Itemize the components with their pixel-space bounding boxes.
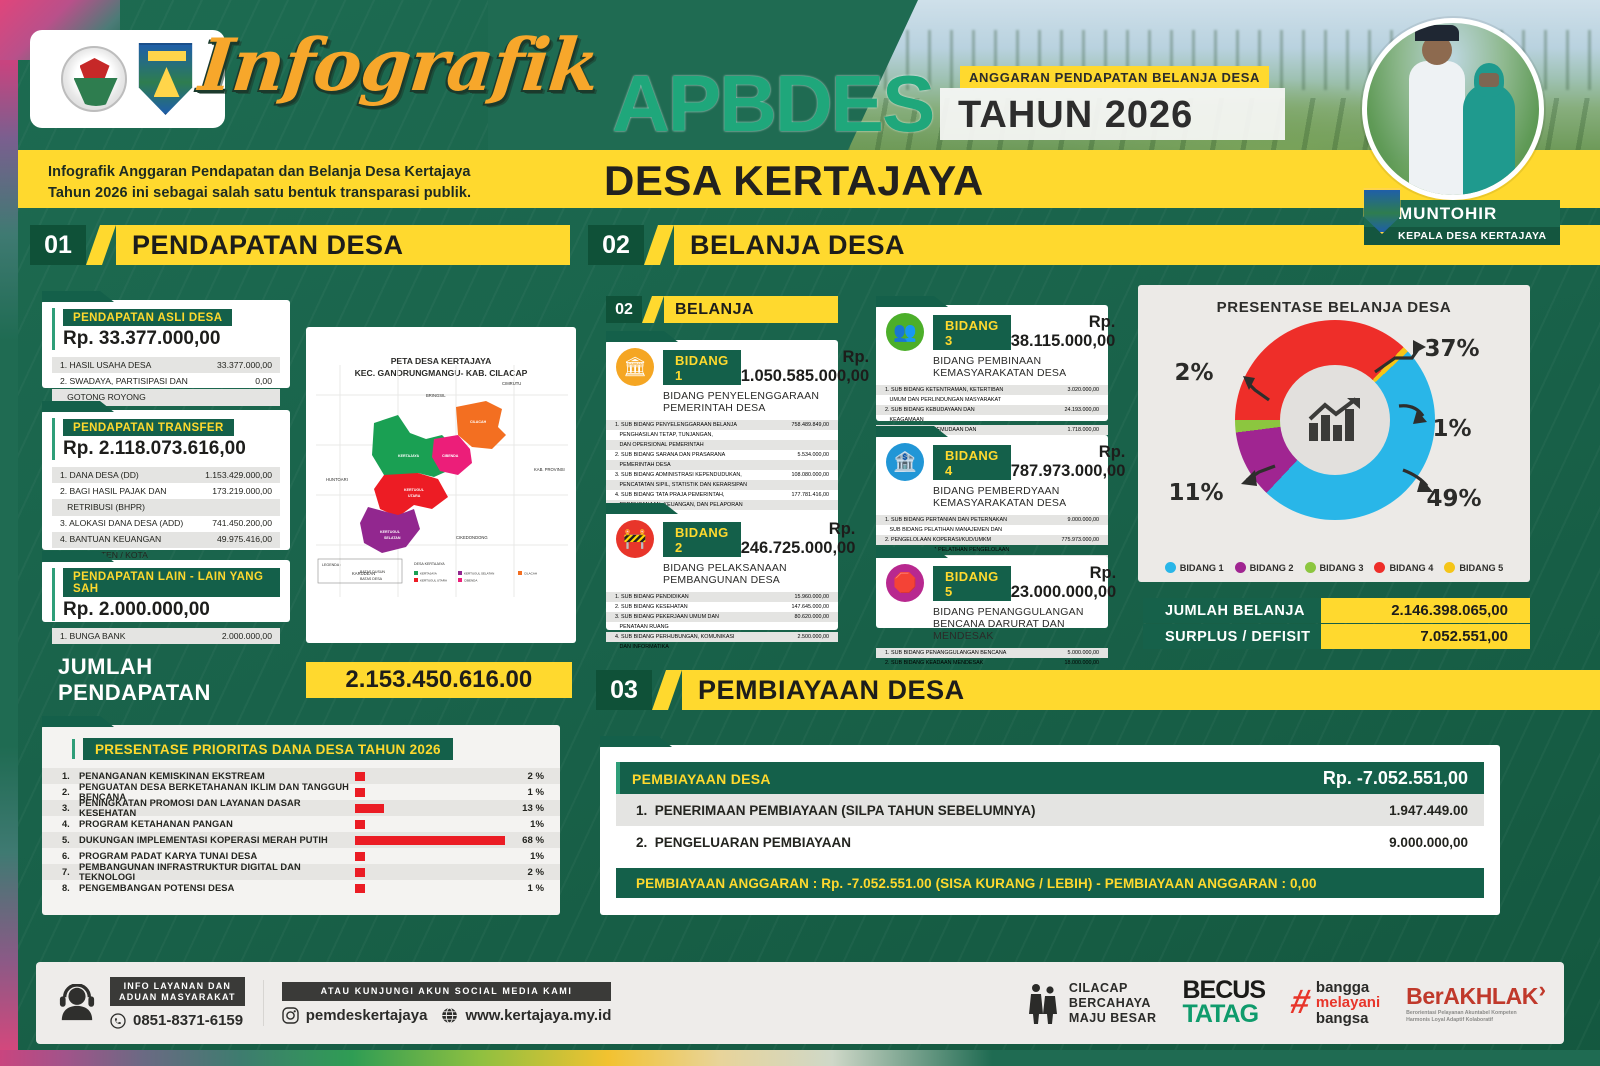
jumlah-pendapatan-value: 2.153.450.616.00	[306, 662, 572, 698]
svg-text:KAB. PROVINSI: KAB. PROVINSI	[534, 467, 565, 472]
donut-center	[1280, 365, 1390, 475]
prioritas-card: PRESENTASE PRIORITAS DANA DESA TAHUN 202…	[42, 725, 560, 915]
row-label: RETRIBUSI (BHPR)	[60, 502, 153, 513]
card-caption: PENDAPATAN ASLI DESA Rp. 33.377.000,00	[52, 308, 280, 350]
emergency-icon: 🛑	[886, 564, 924, 602]
row-bar	[355, 820, 365, 829]
bidang-rows: 1. SUB BIDANG PENDIDIKAN 15.960.000,00 2…	[606, 592, 838, 652]
svg-text:SELATAN: SELATAN	[384, 536, 401, 540]
bidang-card: 👥 BIDANG 3 Rp. 38.115.000,00 BIDANG PEMB…	[876, 305, 1108, 421]
berakhlak-text: BerAKHLAK	[1406, 983, 1538, 1010]
bidang-amount: Rp. 38.115.000,00	[1011, 313, 1120, 351]
row-percent: 2 %	[510, 771, 544, 782]
row-value: 147.645.000,00	[792, 604, 829, 611]
row-bar-track	[355, 852, 510, 861]
cilacap-logo-line-2: BERCAHAYA	[1069, 996, 1157, 1011]
row-bar	[355, 772, 365, 781]
bidang-number: BIDANG 3	[933, 315, 1011, 350]
legend-label: BIDANG 4	[1389, 563, 1433, 573]
row-label: 2. SUB BIDANG SARANA DAN PRASARANA	[615, 452, 733, 459]
row-label: PEMBANGUNAN INFRASTRUKTUR DIGITAL DAN TE…	[79, 862, 355, 882]
section-number-02: 02	[588, 225, 644, 265]
svg-text:KERTUGUL: KERTUGUL	[380, 530, 401, 534]
legend-label: BIDANG 5	[1459, 563, 1503, 573]
pct-label-bidang4: 37%	[1425, 336, 1480, 362]
infographic-page: Infografik APBDES ANGGARAN PENDAPATAN BE…	[0, 0, 1600, 1066]
svg-text:BATAS DUSUN: BATAS DUSUN	[360, 570, 385, 574]
table-row: 1. SUB BIDANG PENDIDIKAN 15.960.000,00	[606, 592, 838, 602]
row-bar	[355, 852, 365, 861]
social-media-badge: ATAU KUNJUNGI AKUN SOCIAL MEDIA KAMI	[282, 982, 612, 1000]
card-amount: Rp. 2.118.073.616,00	[63, 438, 280, 460]
row-value: 2.000.000,00	[222, 631, 272, 642]
bidang-card: 🏛 BIDANG 1 Rp. 1.050.585.000,00 BIDANG P…	[606, 340, 838, 528]
belanja-subbar: 02 BELANJA	[606, 296, 838, 323]
bidang-card: 🚧 BIDANG 2 Rp. 246.725.000,00 BIDANG PEL…	[606, 512, 838, 630]
hashtag-icon: #	[1287, 983, 1314, 1022]
row-label: 1. DANA DESA (DD)	[60, 470, 147, 481]
section-notch	[644, 225, 674, 265]
cilacap-logo-line-1: CILACAP	[1069, 981, 1157, 996]
bidang-header: 🏦 BIDANG 4 Rp. 787.973.000,00 BIDANG PEM…	[876, 435, 1108, 513]
table-row: 2. PENGELOLAAN KOPERASI/KUD/UMKM 775.973…	[876, 535, 1108, 545]
chart-legend: BIDANG 1 BIDANG 2 BIDANG 3 BIDANG 4 BIDA…	[1138, 562, 1530, 573]
legend-item: BIDANG 4	[1374, 562, 1433, 573]
row-value: 0,00	[255, 376, 272, 387]
table-row: PENCATATAN SIPIL, STATISTIK DAN KERARSIP…	[606, 480, 838, 490]
row-value: 173.219.000,00	[212, 486, 272, 497]
jumlah-belanja-bar: JUMLAH BELANJA 2.146.398.065,00	[1143, 598, 1530, 623]
logo-box	[30, 30, 225, 128]
jumlah-belanja-label: JUMLAH BELANJA	[1143, 598, 1321, 623]
row-percent: 68 %	[510, 835, 544, 846]
row-label: 2. SWADAYA, PARTISIPASI DAN	[60, 376, 196, 387]
head-name: MUNTOHIR	[1398, 204, 1497, 224]
pendapatan-card: PENDAPATAN LAIN - LAIN YANG SAH Rp. 2.00…	[42, 560, 290, 622]
footer-bar: INFO LAYANAN DAN ADUAN MASYARAKAT 0851-8…	[36, 962, 1564, 1044]
pembiayaan-row: 1. PENERIMAAN PEMBIAYAAN (SILPA TAHUN SE…	[616, 794, 1484, 826]
table-row: 1. SUB BIDANG KETENTRAMAN, KETERTIBAN 3.…	[876, 385, 1108, 395]
surplus-label: SURPLUS / DEFISIT	[1143, 624, 1321, 649]
card-rows: 1. HASIL USAHA DESA 33.377.000,00 2. SWA…	[52, 357, 280, 406]
row-label: 1. PENERIMAAN PEMBIAYAAN (SILPA TAHUN SE…	[636, 803, 1036, 818]
row-label: PROGRAM PADAT KARYA TUNAI DESA	[79, 851, 355, 861]
row-label: 2. PENGELUARAN PEMBIAYAAN	[636, 835, 851, 850]
table-row: 2. SUB BIDANG KEADAAN MENDESAK 18.000.00…	[876, 658, 1108, 668]
row-value: 5.000.000,00	[1068, 650, 1099, 657]
table-row: 1. SUB BIDANG PENANGGULANGAN BENCANA 5.0…	[876, 648, 1108, 658]
chevron-right-icon: ›	[1539, 977, 1546, 1003]
table-row: 1. HASIL USAHA DESA 33.377.000,00	[52, 357, 280, 373]
table-row: DAN INFORMATIKA	[606, 642, 838, 652]
infografik-script-title: Infografik	[196, 22, 603, 107]
row-number: 5.	[62, 835, 79, 845]
belanja-pie-chart: PRESENTASE BELANJA DESA 37% 1% 49% 11% 2…	[1138, 285, 1530, 582]
cilacap-seal-icon	[137, 43, 195, 115]
legend-dot	[1305, 562, 1316, 573]
card-title: PENDAPATAN LAIN - LAIN YANG SAH	[63, 568, 280, 597]
legend-dot	[1235, 562, 1246, 573]
row-number: 7.	[62, 867, 79, 877]
bidang-number: BIDANG 1	[663, 350, 741, 385]
legend-label: BIDANG 2	[1250, 563, 1294, 573]
bidang-subtitle: BIDANG PELAKSANAAN PEMBANGUNAN DESA	[663, 562, 859, 586]
legend-dot	[1374, 562, 1385, 573]
subtitle-line-2: Tahun 2026 ini sebagai salah satu bentuk…	[48, 183, 471, 204]
section-label-pendapatan: PENDAPATAN DESA	[116, 225, 570, 265]
bidang-amount: Rp. 23.000.000,00	[1011, 564, 1121, 602]
table-row: 4. SUB BIDANG TATA PRAJA PEMERINTAH, 177…	[606, 490, 838, 500]
row-value: 1.718.000,00	[1068, 427, 1099, 434]
bottom-edge-stripe	[0, 1050, 1600, 1066]
table-row: KEAGAMAAN	[876, 415, 1108, 425]
row-percent: 13 %	[510, 803, 544, 814]
bidang-amount: Rp. 787.973.000,00	[1011, 443, 1130, 481]
bidang-header: 🏛 BIDANG 1 Rp. 1.050.585.000,00 BIDANG P…	[606, 340, 838, 418]
legend-item: BIDANG 3	[1305, 562, 1364, 573]
globe-website-icon	[441, 1007, 458, 1024]
apbdes-title: APBDES	[612, 68, 933, 140]
info-badge-line-2: ADUAN MASYARAKAT	[119, 992, 236, 1002]
becus-tatag-logo: BECUS TATAG	[1182, 979, 1265, 1027]
tatag-text: TATAG	[1182, 1003, 1265, 1027]
row-label: 3. SUB BIDANG PEKERJAAN UMUM DAN	[615, 614, 727, 621]
bidang-number: BIDANG 4	[933, 445, 1011, 480]
bidang-subtitle: BIDANG PENYELENGGARAAN PEMERINTAH DESA	[663, 390, 873, 414]
legend-label: BIDANG 1	[1180, 563, 1224, 573]
avatar-head-male	[1409, 61, 1465, 200]
prioritas-row: 4. PROGRAM KETAHANAN PANGAN 1%	[42, 816, 560, 832]
row-percent: 1 %	[510, 883, 544, 894]
table-row: 2. SUB BIDANG KESEHATAN 147.645.000,00	[606, 602, 838, 612]
info-layanan-badge: INFO LAYANAN DAN ADUAN MASYARAKAT	[110, 977, 245, 1007]
svg-text:CIBENDA: CIBENDA	[442, 454, 459, 458]
row-bar-track	[355, 788, 510, 797]
empowerment-icon: 🏦	[886, 443, 924, 481]
row-label: DUKUNGAN IMPLEMENTASI KOPERASI MERAH PUT…	[79, 835, 355, 845]
legend-label: BIDANG 3	[1320, 563, 1364, 573]
row-label: PENGHASILAN TETAP, TUNJANGAN,	[615, 432, 721, 439]
cilacap-figures-icon	[1026, 981, 1060, 1025]
section-label-pembiayaan: PEMBIAYAAN DESA	[682, 670, 1600, 710]
svg-text:CILACAH: CILACAH	[470, 420, 487, 424]
table-row: UMUM DAN PERLINDUNGAN MASYARAKAT	[876, 395, 1108, 405]
table-row: PENATAAN RUANG	[606, 622, 838, 632]
section-number-03: 03	[596, 670, 652, 710]
bangga-melayani-bangsa-logo: # bangga melayani bangsa	[1291, 980, 1380, 1026]
row-label: 4. SUB BIDANG PERHUBUNGAN, KOMUNIKASI	[615, 634, 743, 641]
row-bar-track	[355, 836, 510, 845]
row-label: 1. SUB BIDANG PENYELENGGARAAN BELANJA	[615, 422, 745, 429]
row-label: PEMERINTAH DESA	[615, 462, 679, 469]
card-caption: PENDAPATAN TRANSFER Rp. 2.118.073.616,00	[52, 418, 280, 460]
avatar-head-female	[1463, 83, 1515, 200]
svg-text:UTARA: UTARA	[408, 494, 421, 498]
left-edge-stripe	[0, 0, 18, 1066]
table-row: DAN OPERSIONAL PEMERINTAH	[606, 440, 838, 450]
row-value: 80.620.000,00	[795, 614, 829, 621]
svg-text:KERTUGUL SELATAN: KERTUGUL SELATAN	[464, 572, 494, 576]
bangga-text: bangga	[1316, 980, 1380, 995]
row-label: 1. HASIL USAHA DESA	[60, 360, 159, 371]
belanja-subbar-label: BELANJA	[664, 296, 838, 323]
row-label: 1. SUB BIDANG PENANGGULANGAN BENCANA	[885, 650, 1014, 657]
row-label: PROGRAM KETAHANAN PANGAN	[79, 819, 355, 829]
belanja-subbar-notch	[642, 296, 664, 323]
row-label: 1. SUB BIDANG PENDIDIKAN	[615, 594, 697, 601]
bank-icon: 🏛	[616, 348, 654, 386]
row-label: UMUM DAN PERLINDUNGAN MASYARAKAT	[885, 397, 1009, 404]
row-value: 1.947.449.00	[1389, 803, 1468, 818]
row-label: DAN OPERSIONAL PEMERINTAH	[615, 442, 712, 449]
pct-label-bidang2: 11%	[1169, 480, 1224, 506]
svg-text:KERTUGUL: KERTUGUL	[404, 488, 425, 492]
svg-text:BRINGSIL: BRINGSIL	[426, 393, 446, 398]
head-role: KEPALA DESA KERTAJAYA	[1364, 227, 1560, 245]
chart-title: PRESENTASE BELANJA DESA	[1138, 285, 1530, 316]
row-bar	[355, 884, 365, 893]
legend-item: BIDANG 5	[1444, 562, 1503, 573]
village-head-nameplate: MUNTOHIR KEPALA DESA KERTAJAYA	[1364, 200, 1560, 245]
subtitle-line-1: Infografik Anggaran Pendapatan dan Belan…	[48, 162, 471, 183]
row-label: PENINGKATAN PROMOSI DAN LAYANAN DASAR KE…	[79, 798, 355, 818]
svg-text:CILACAH: CILACAH	[524, 572, 537, 576]
community-icon: 👥	[886, 313, 924, 351]
pembiayaan-header-label: PEMBIAYAAN DESA	[632, 771, 771, 787]
row-label: PENCATATAN SIPIL, STATISTIK DAN KERARSIP…	[615, 482, 755, 489]
row-value: 1.153.429.000,00	[205, 470, 272, 481]
bidang-subtitle: BIDANG PENANGGULANGAN BENCANA DARURAT DA…	[933, 606, 1120, 642]
svg-text:CIKEDONDONG: CIKEDONDONG	[456, 535, 488, 540]
row-bar	[355, 788, 365, 797]
row-label: 2. BAGI HASIL PAJAK DAN	[60, 486, 175, 497]
bidang-header: 👥 BIDANG 3 Rp. 38.115.000,00 BIDANG PEMB…	[876, 305, 1108, 383]
growth-chart-icon	[1306, 397, 1364, 443]
table-row: SUB BIDANG PELATIHAN MANAJEMEN DAN	[876, 525, 1108, 535]
card-amount: Rp. 33.377.000,00	[63, 328, 280, 350]
table-row: 2. SWADAYA, PARTISIPASI DAN 0,00	[52, 373, 280, 389]
table-row: 4. BANTUAN KEUANGAN 49.975.416,00	[52, 532, 280, 548]
card-rows: 1. BUNGA BANK 2.000.000,00	[52, 628, 280, 644]
belanja-subbar-number: 02	[606, 296, 642, 323]
row-label: 1. BUNGA BANK	[60, 631, 133, 642]
row-label: PENATAAN RUANG	[615, 624, 677, 631]
legend-item: BIDANG 2	[1235, 562, 1294, 573]
prioritas-row: 5. DUKUNGAN IMPLEMENTASI KOPERASI MERAH …	[42, 832, 560, 848]
tahun-text: TAHUN 2026	[958, 94, 1193, 137]
row-value: 9.000.000,00	[1389, 835, 1468, 850]
row-number: 8.	[62, 883, 79, 893]
card-caption: PENDAPATAN LAIN - LAIN YANG SAH Rp. 2.00…	[52, 568, 280, 621]
legend-dot	[1165, 562, 1176, 573]
row-label: PENANGANAN KEMISKINAN EKSTREAM	[79, 771, 355, 781]
pendapatan-card: PENDAPATAN TRANSFER Rp. 2.118.073.616,00…	[42, 410, 290, 550]
village-title: DESA KERTAJAYA	[604, 157, 984, 205]
row-bar	[355, 868, 365, 877]
cilacap-bercahaya-logo: CILACAP BERCAHAYA MAJU BESAR	[1026, 981, 1157, 1026]
row-value: 24.193.000,00	[1065, 407, 1099, 414]
svg-text:KERTUGUL UTARA: KERTUGUL UTARA	[420, 579, 447, 583]
row-value: 49.975.416,00	[217, 534, 272, 545]
row-bar	[355, 836, 505, 845]
row-value: 33.377.000,00	[217, 360, 272, 371]
row-label: KEAGAMAAN	[885, 417, 932, 424]
row-bar	[355, 804, 384, 813]
row-value: 741.450.200,00	[212, 518, 272, 529]
row-label: 4. BANTUAN KEUANGAN	[60, 534, 169, 545]
section-notch	[86, 225, 116, 265]
header-subtitle: Infografik Anggaran Pendapatan dan Belan…	[48, 162, 471, 204]
prioritas-row: 8. PENGEMBANGAN POTENSI DESA 1 %	[42, 880, 560, 896]
bidang-subtitle: BIDANG PEMBERDYAAN KEMASYARAKATAN DESA	[933, 485, 1129, 509]
section-notch	[652, 670, 682, 710]
village-head-photo	[1362, 18, 1544, 200]
row-bar-track	[355, 868, 510, 877]
jumlah-belanja-value: 2.146.398.065,00	[1321, 598, 1530, 623]
pct-label-bidang5: 1%	[1433, 416, 1472, 442]
instagram-icon	[282, 1007, 299, 1024]
table-row: 2. SUB BIDANG SARANA DAN PRASARANA 5.534…	[606, 450, 838, 460]
row-label: 1. SUB BIDANG KETENTRAMAN, KETERTIBAN	[885, 387, 1011, 394]
jumlah-pendapatan-label: JUMLAH PENDAPATAN	[42, 662, 306, 698]
svg-text:HUNTOARI: HUNTOARI	[326, 477, 348, 482]
table-row: 1. SUB BIDANG PENYELENGGARAAN BELANJA 75…	[606, 420, 838, 430]
row-value: 3.020.000,00	[1068, 387, 1099, 394]
row-value: 108.080.000,00	[792, 472, 829, 479]
village-map-card: PETA DESA KERTAJAYA KEC. GANDRUNGMANGU- …	[306, 327, 576, 643]
construction-icon: 🚧	[616, 520, 654, 558]
section-bar-pembiayaan: 03 PEMBIAYAAN DESA	[596, 670, 1600, 710]
row-bar-track	[355, 804, 510, 813]
table-row: 1. DANA DESA (DD) 1.153.429.000,00	[52, 467, 280, 483]
bidang-card: 🛑 BIDANG 5 Rp. 23.000.000,00 BIDANG PENA…	[876, 556, 1108, 628]
table-row: 4. SUB BIDANG PERHUBUNGAN, KOMUNIKASI 2.…	[606, 632, 838, 642]
bidang-amount: Rp. 246.725.000,00	[741, 520, 860, 558]
row-bar-track	[355, 820, 510, 829]
anggaran-tag: ANGGARAN PENDAPATAN BELANJA DESA	[960, 66, 1269, 88]
prioritas-row: 3. PENINGKATAN PROMOSI DAN LAYANAN DASAR…	[42, 800, 560, 816]
bidang-rows: 1. SUB BIDANG PENANGGULANGAN BENCANA 5.0…	[876, 648, 1108, 668]
pct-label-bidang3: 2%	[1175, 360, 1214, 386]
pembiayaan-row: 2. PENGELUARAN PEMBIAYAAN 9.000.000,00	[616, 826, 1484, 858]
row-percent: 1%	[510, 851, 544, 862]
jumlah-pendapatan-bar: JUMLAH PENDAPATAN 2.153.450.616.00	[42, 662, 572, 698]
legend-dot	[1444, 562, 1455, 573]
row-label: 3. ALOKASI DANA DESA (ADD)	[60, 518, 191, 529]
berakhlak-logo: BerAKHLAK Berorientasi Pelayanan Akuntab…	[1406, 983, 1538, 1023]
row-label: 2. PENGELOLAAN KOPERASI/KUD/UMKM	[885, 537, 999, 544]
row-percent: 2 %	[510, 867, 544, 878]
row-label: 2. SUB BIDANG KESEHATAN	[615, 604, 696, 611]
svg-text:CIBENDA: CIBENDA	[464, 579, 477, 583]
prioritas-row: 7. PEMBANGUNAN INFRASTRUKTUR DIGITAL DAN…	[42, 864, 560, 880]
bidang-number: BIDANG 2	[663, 522, 741, 557]
svg-text:KERTAJAYA: KERTAJAYA	[420, 572, 437, 576]
berakhlak-tagline: Berorientasi Pelayanan Akuntabel Kompete…	[1406, 1010, 1526, 1023]
row-number: 1.	[62, 771, 79, 781]
svg-text:KERTAJAYA: KERTAJAYA	[398, 454, 419, 458]
card-amount: Rp. 2.000.000,00	[63, 599, 280, 621]
table-row: 3. ALOKASI DANA DESA (ADD) 741.450.200,0…	[52, 516, 280, 532]
whatsapp-icon	[110, 1013, 126, 1029]
cilacap-logo-line-3: MAJU BESAR	[1069, 1011, 1157, 1026]
instagram-handle[interactable]: pemdeskertajaya	[306, 1007, 428, 1024]
legend-item: BIDANG 1	[1165, 562, 1224, 573]
partner-logos: CILACAP BERCAHAYA MAJU BESAR BECUS TATAG…	[1026, 979, 1564, 1027]
row-value: 177.781.416,00	[792, 492, 829, 499]
row-value: 2.500.000,00	[798, 634, 829, 641]
row-value: 775.973.000,00	[1062, 537, 1099, 544]
row-value: 15.960.000,00	[795, 594, 829, 601]
map-svg: CIMRUTUBRINGSIL KAB. PROVINSIHUNTOARI CI…	[306, 357, 576, 607]
table-row: 3. SUB BIDANG ADMINISTRASI KEPENDUDUKAN,…	[606, 470, 838, 480]
bidang-subtitle: BIDANG PEMBINAAN KEMASYARAKATAN DESA	[933, 355, 1119, 379]
row-label: 2. SUB BIDANG KEADAAN MENDESAK	[885, 660, 991, 667]
table-row: 1. SUB BIDANG PERTANIAN DAN PETERNAKAN 9…	[876, 515, 1108, 525]
surplus-value: 7.052.551,00	[1321, 624, 1530, 649]
bidang-amount: Rp. 1.050.585.000,00	[741, 348, 873, 386]
row-label: 3. SUB BIDANG ADMINISTRASI KEPENDUDUKAN,	[615, 472, 750, 479]
section-number-01: 01	[30, 225, 86, 265]
row-number: 6.	[62, 851, 79, 861]
pembiayaan-header-value: Rp. -7.052.551,00	[1323, 768, 1468, 789]
row-value: 9.000.000,00	[1068, 517, 1099, 524]
section-bar-pendapatan: 01 PENDAPATAN DESA	[30, 225, 570, 265]
row-number: 4.	[62, 819, 79, 829]
row-number: 3.	[62, 803, 79, 813]
svg-text:BATAS DESA: BATAS DESA	[360, 577, 383, 581]
kemendesa-seal-icon	[61, 42, 127, 116]
pct-label-bidang1: 49%	[1427, 486, 1482, 512]
row-label: PENGEMBANGAN POTENSI DESA	[79, 883, 355, 893]
table-row: PEMERINTAH DESA	[606, 460, 838, 470]
bangsa-text: bangsa	[1316, 1011, 1380, 1026]
bidang-card: 🏦 BIDANG 4 Rp. 787.973.000,00 BIDANG PEM…	[876, 435, 1108, 545]
row-label: SUB BIDANG PELATIHAN MANAJEMEN DAN	[885, 527, 1010, 534]
card-title: PENDAPATAN TRANSFER	[63, 419, 234, 436]
card-title: PENDAPATAN ASLI DESA	[63, 309, 232, 326]
pendapatan-card: PENDAPATAN ASLI DESA Rp. 33.377.000,00 1…	[42, 300, 290, 388]
headset-support-icon	[58, 984, 96, 1022]
row-number: 2.	[62, 787, 79, 797]
pembiayaan-header: PEMBIAYAAN DESA Rp. -7.052.551,00	[616, 762, 1484, 794]
footer-divider	[263, 980, 264, 1026]
svg-text:DESA KERTAJAYA: DESA KERTAJAYA	[414, 562, 445, 566]
donut-wrap: 37% 1% 49% 11% 2%	[1227, 320, 1442, 520]
bidang-header: 🛑 BIDANG 5 Rp. 23.000.000,00 BIDANG PENA…	[876, 556, 1108, 646]
row-bar-track	[355, 884, 510, 893]
row-value: 758.489.849,00	[792, 422, 829, 429]
pembiayaan-card: PEMBIAYAAN DESA Rp. -7.052.551,00 1. PEN…	[600, 745, 1500, 915]
bidang-header: 🚧 BIDANG 2 Rp. 246.725.000,00 BIDANG PEL…	[606, 512, 838, 590]
table-row: 3. SUB BIDANG PEKERJAAN UMUM DAN 80.620.…	[606, 612, 838, 622]
svg-text:CIMRUTU: CIMRUTU	[502, 381, 521, 386]
phone-number[interactable]: 0851-8371-6159	[133, 1012, 243, 1029]
svg-text:LEGENDA :: LEGENDA :	[322, 563, 341, 567]
card-rows: 1. DANA DESA (DD) 1.153.429.000,00 2. BA…	[52, 467, 280, 564]
prioritas-caption: PRESENTASE PRIORITAS DANA DESA TAHUN 202…	[42, 725, 560, 768]
website-url[interactable]: www.kertajaya.my.id	[465, 1007, 611, 1024]
table-row: PENGHASILAN TETAP, TUNJANGAN,	[606, 430, 838, 440]
prioritas-title: PRESENTASE PRIORITAS DANA DESA TAHUN 202…	[83, 738, 453, 760]
row-value: 18.000.000,00	[1065, 660, 1099, 667]
row-label: DAN INFORMATIKA	[615, 644, 677, 651]
surplus-defisit-bar: SURPLUS / DEFISIT 7.052.551,00	[1143, 624, 1530, 649]
bidang-number: BIDANG 5	[933, 566, 1011, 601]
row-bar-track	[355, 772, 510, 781]
row-label: 4. SUB BIDANG TATA PRAJA PEMERINTAH,	[615, 492, 732, 499]
row-label: 1. SUB BIDANG PERTANIAN DAN PETERNAKAN	[885, 517, 1015, 524]
